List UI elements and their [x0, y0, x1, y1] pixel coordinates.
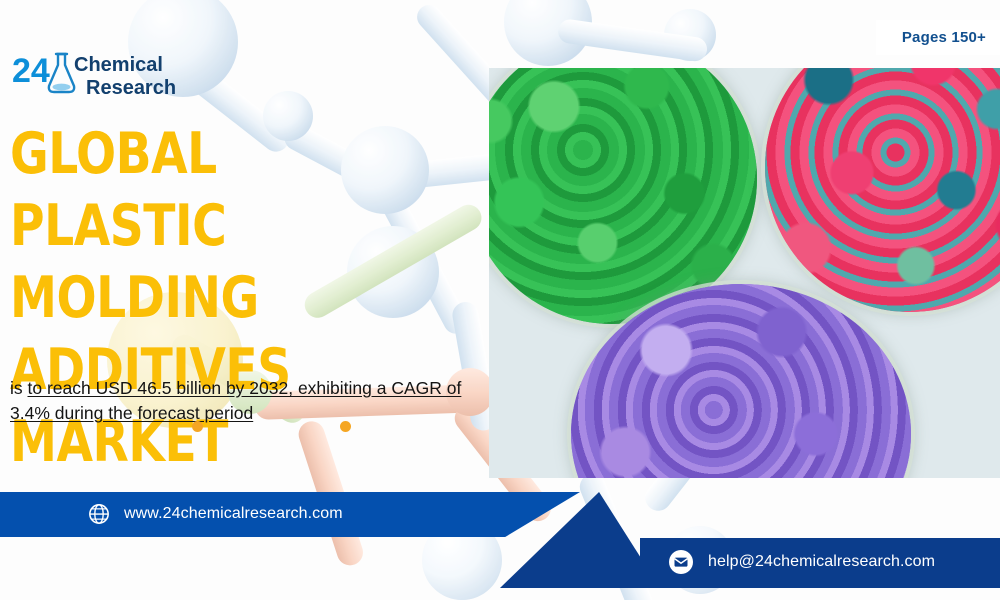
svg-text:24: 24 — [12, 52, 50, 90]
accent-dot-left — [192, 421, 203, 432]
pink-teal-granules-dish — [765, 68, 1000, 312]
subtitle-lead: is — [10, 378, 28, 398]
marketing-banner: 24 Chemical Research Pages 150+ GLOBAL P… — [0, 0, 1000, 600]
market-forecast-statement: is to reach USD 46.5 billion by 2032, ex… — [10, 376, 462, 426]
website-label: www.24chemicalresearch.com — [124, 505, 343, 523]
svg-text:Research: Research — [86, 77, 176, 99]
flask-icon — [49, 54, 74, 92]
purple-granules-dish — [571, 284, 911, 478]
email-row[interactable]: help@24chemicalresearch.com — [668, 545, 935, 579]
subtitle-underlined: to reach USD 46.5 billion by 2032, exhib… — [10, 378, 461, 423]
brand-logo[interactable]: 24 Chemical Research — [12, 46, 182, 98]
envelope-icon — [668, 549, 694, 575]
accent-dot-right — [340, 421, 351, 432]
logo-mark: 24 Chemical Research — [12, 46, 182, 100]
headline-line-1: GLOBAL PLASTIC — [10, 118, 433, 262]
pages-badge: Pages 150+ — [876, 20, 1000, 55]
globe-icon — [88, 503, 110, 525]
svg-text:Chemical: Chemical — [74, 54, 163, 76]
website-row[interactable]: www.24chemicalresearch.com — [88, 499, 343, 529]
product-photo — [489, 68, 1000, 478]
email-label: help@24chemicalresearch.com — [708, 553, 935, 571]
